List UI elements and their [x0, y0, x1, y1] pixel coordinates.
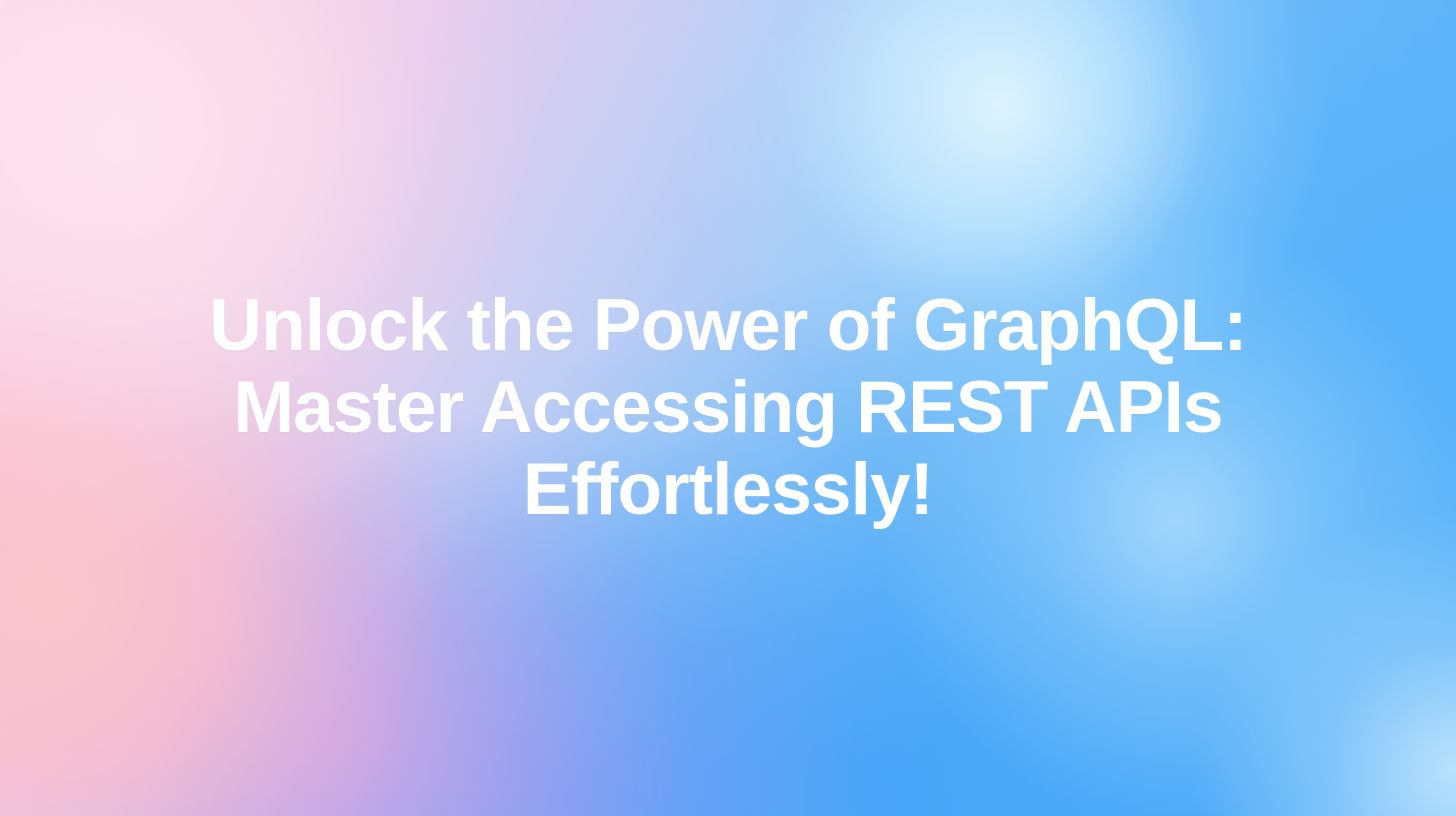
- page-title: Unlock the Power of GraphQL: Master Acce…: [78, 285, 1378, 530]
- hero-banner: Unlock the Power of GraphQL: Master Acce…: [0, 0, 1456, 816]
- headline-container: Unlock the Power of GraphQL: Master Acce…: [0, 0, 1456, 816]
